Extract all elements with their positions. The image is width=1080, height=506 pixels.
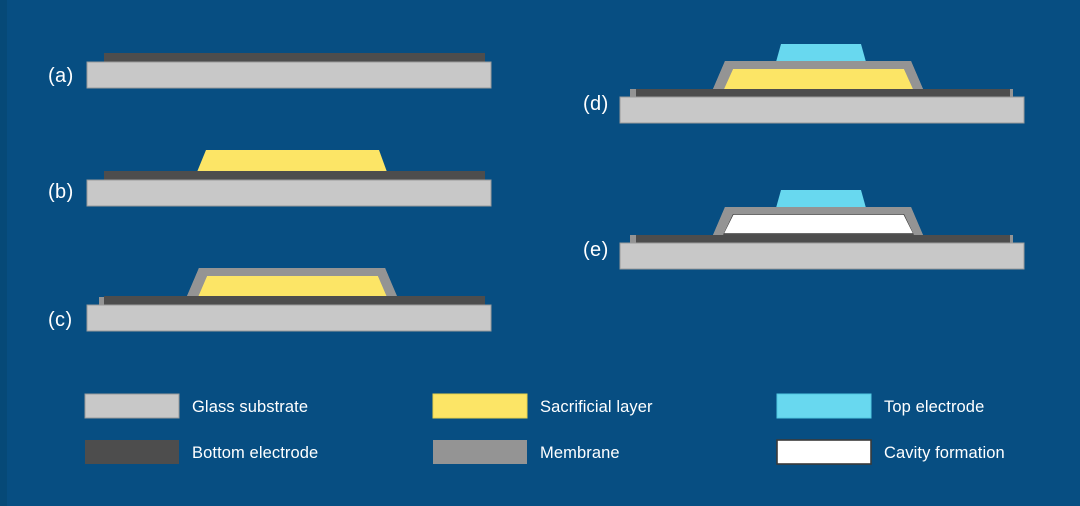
panel-e-cavity — [723, 214, 914, 234]
panel-d-glass-substrate — [620, 97, 1024, 123]
legend-swatch-sacrificial-layer — [433, 394, 527, 418]
legend-item-bottom-electrode: Bottom electrode — [85, 440, 318, 464]
panel-c-sacrificial-layer — [198, 276, 387, 297]
legend-label-cavity-formation: Cavity formation — [884, 444, 1005, 462]
left-edge-band — [0, 0, 7, 506]
legend-swatch-cavity-formation — [777, 440, 871, 464]
legend-item-membrane: Membrane — [433, 440, 620, 464]
legend-label-glass-substrate: Glass substrate — [192, 398, 308, 416]
legend-label-bottom-electrode: Bottom electrode — [192, 444, 318, 462]
legend-swatch-glass-substrate — [85, 394, 179, 418]
legend-item-sacrificial-layer: Sacrificial layer — [433, 394, 653, 418]
panel-c-bottom-electrode-visible — [104, 296, 485, 305]
legend-item-glass-substrate: Glass substrate — [85, 394, 308, 418]
legend-swatch-membrane — [433, 440, 527, 464]
legend-label-top-electrode: Top electrode — [884, 398, 984, 416]
legend-label-membrane: Membrane — [540, 444, 620, 462]
legend-swatch-bottom-electrode — [85, 440, 179, 464]
legend-label-sacrificial-layer: Sacrificial layer — [540, 398, 653, 416]
figure-canvas: (a) (b) (c) (d) (e) — [0, 0, 1080, 506]
legend-item-cavity-formation: Cavity formation — [777, 440, 1005, 464]
panel-a: (a) — [48, 53, 491, 88]
panel-b-label: (b) — [48, 181, 74, 203]
panel-e-label: (e) — [583, 239, 609, 261]
panel-a-label: (a) — [48, 65, 74, 87]
panel-c-label: (c) — [48, 309, 73, 331]
panel-d-top-electrode — [776, 44, 866, 62]
panel-a-bottom-electrode — [104, 53, 485, 62]
panel-e-top-electrode — [776, 190, 866, 208]
panel-d-sacrificial-layer — [724, 69, 913, 89]
legend-swatch-top-electrode — [777, 394, 871, 418]
panel-a-glass-substrate — [87, 62, 491, 88]
panel-b-glass-substrate — [87, 180, 491, 206]
panel-b-sacrificial-layer — [197, 150, 387, 172]
process-flow-diagram: (a) (b) (c) (d) (e) — [0, 0, 1080, 506]
panel-b-bottom-electrode — [104, 171, 485, 180]
panel-c-glass-substrate — [87, 305, 491, 331]
panel-e-glass-substrate — [620, 243, 1024, 269]
panel-d-label: (d) — [583, 93, 609, 115]
